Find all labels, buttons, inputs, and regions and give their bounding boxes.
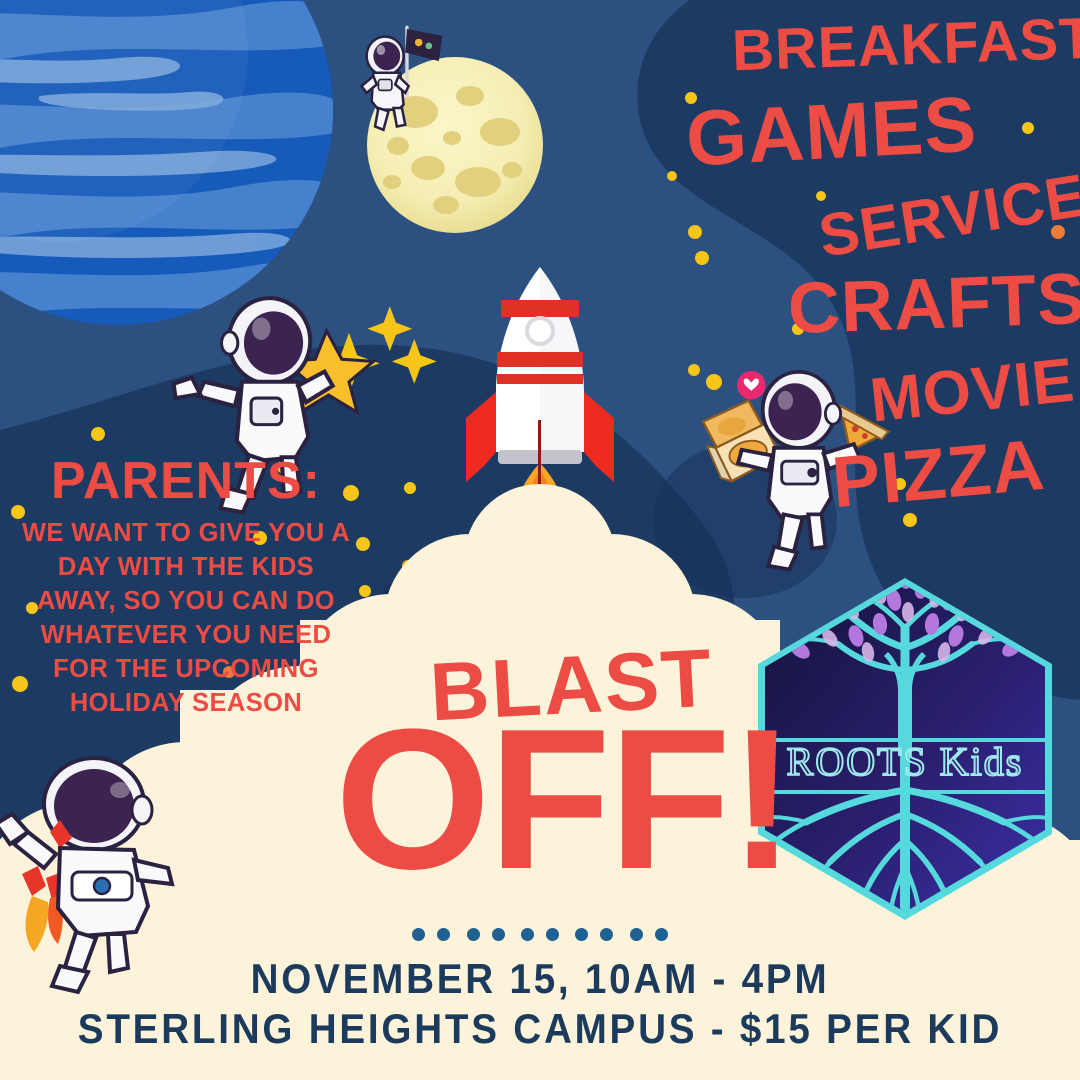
divider-dot bbox=[437, 928, 450, 941]
title-off: OFF! bbox=[335, 700, 794, 900]
activity-games: GAMES bbox=[684, 84, 979, 177]
event-venue-price: STERLING HEIGHTS CAMPUS - $15 PER KID bbox=[43, 1005, 1037, 1053]
activity-crafts: CRAFTS bbox=[787, 263, 1080, 345]
activity-list: BREAKFAST GAMES SERVICE CRAFTS MOVIE PIZ… bbox=[620, 0, 1080, 560]
parents-line-3: AWAY, SO YOU CAN DO bbox=[16, 585, 356, 619]
activity-pizza: PIZZA bbox=[829, 429, 1047, 519]
activity-breakfast: BREAKFAST bbox=[731, 10, 1080, 81]
divider-dot bbox=[467, 928, 480, 941]
divider-dot bbox=[630, 928, 643, 941]
dot-divider bbox=[0, 928, 1080, 946]
parents-line-6: HOLIDAY SEASON bbox=[16, 687, 356, 721]
divider-dot bbox=[600, 928, 613, 941]
divider-dot bbox=[575, 928, 588, 941]
logo-wordmark: ROOTS Kids bbox=[787, 739, 1024, 784]
divider-dot bbox=[492, 928, 505, 941]
parents-line-5: FOR THE UPCOMING bbox=[16, 653, 356, 687]
event-poster: ROOTS Kids BREAKFAST GAMES SERVICE CRAFT… bbox=[0, 0, 1080, 1080]
parents-message-block: PARENTS: WE WANT TO GIVE YOU A DAY WITH … bbox=[16, 455, 356, 720]
parents-heading: PARENTS: bbox=[16, 455, 356, 507]
event-datetime: NOVEMBER 15, 10AM - 4PM bbox=[43, 955, 1037, 1003]
divider-dot bbox=[546, 928, 559, 941]
parents-line-2: DAY WITH THE KIDS bbox=[16, 551, 356, 585]
activity-service: SERVICE bbox=[815, 165, 1080, 266]
divider-dot bbox=[412, 928, 425, 941]
divider-dot bbox=[655, 928, 668, 941]
parents-line-4: WHATEVER YOU NEED bbox=[16, 619, 356, 653]
activity-movie: MOVIE bbox=[867, 349, 1077, 432]
divider-dot bbox=[521, 928, 534, 941]
parents-line-1: WE WANT TO GIVE YOU A bbox=[16, 517, 356, 551]
parents-body: WE WANT TO GIVE YOU A DAY WITH THE KIDS … bbox=[16, 517, 356, 720]
